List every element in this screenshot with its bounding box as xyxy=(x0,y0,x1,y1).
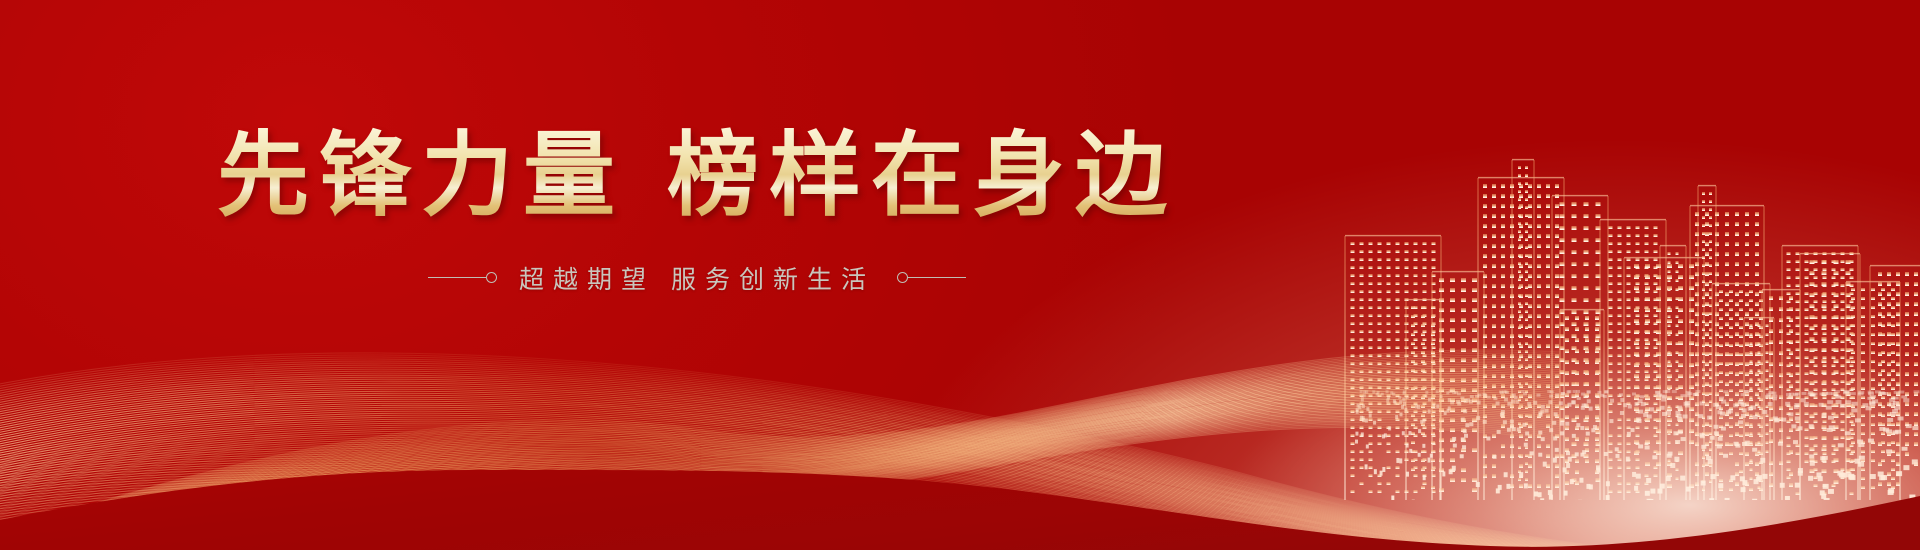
bottom-red-curve xyxy=(0,0,1920,550)
promotional-banner: 先锋力量 榜样在身边 超越期望 服务创新生活 xyxy=(0,0,1920,550)
foreground-curve-layer xyxy=(0,0,1920,550)
